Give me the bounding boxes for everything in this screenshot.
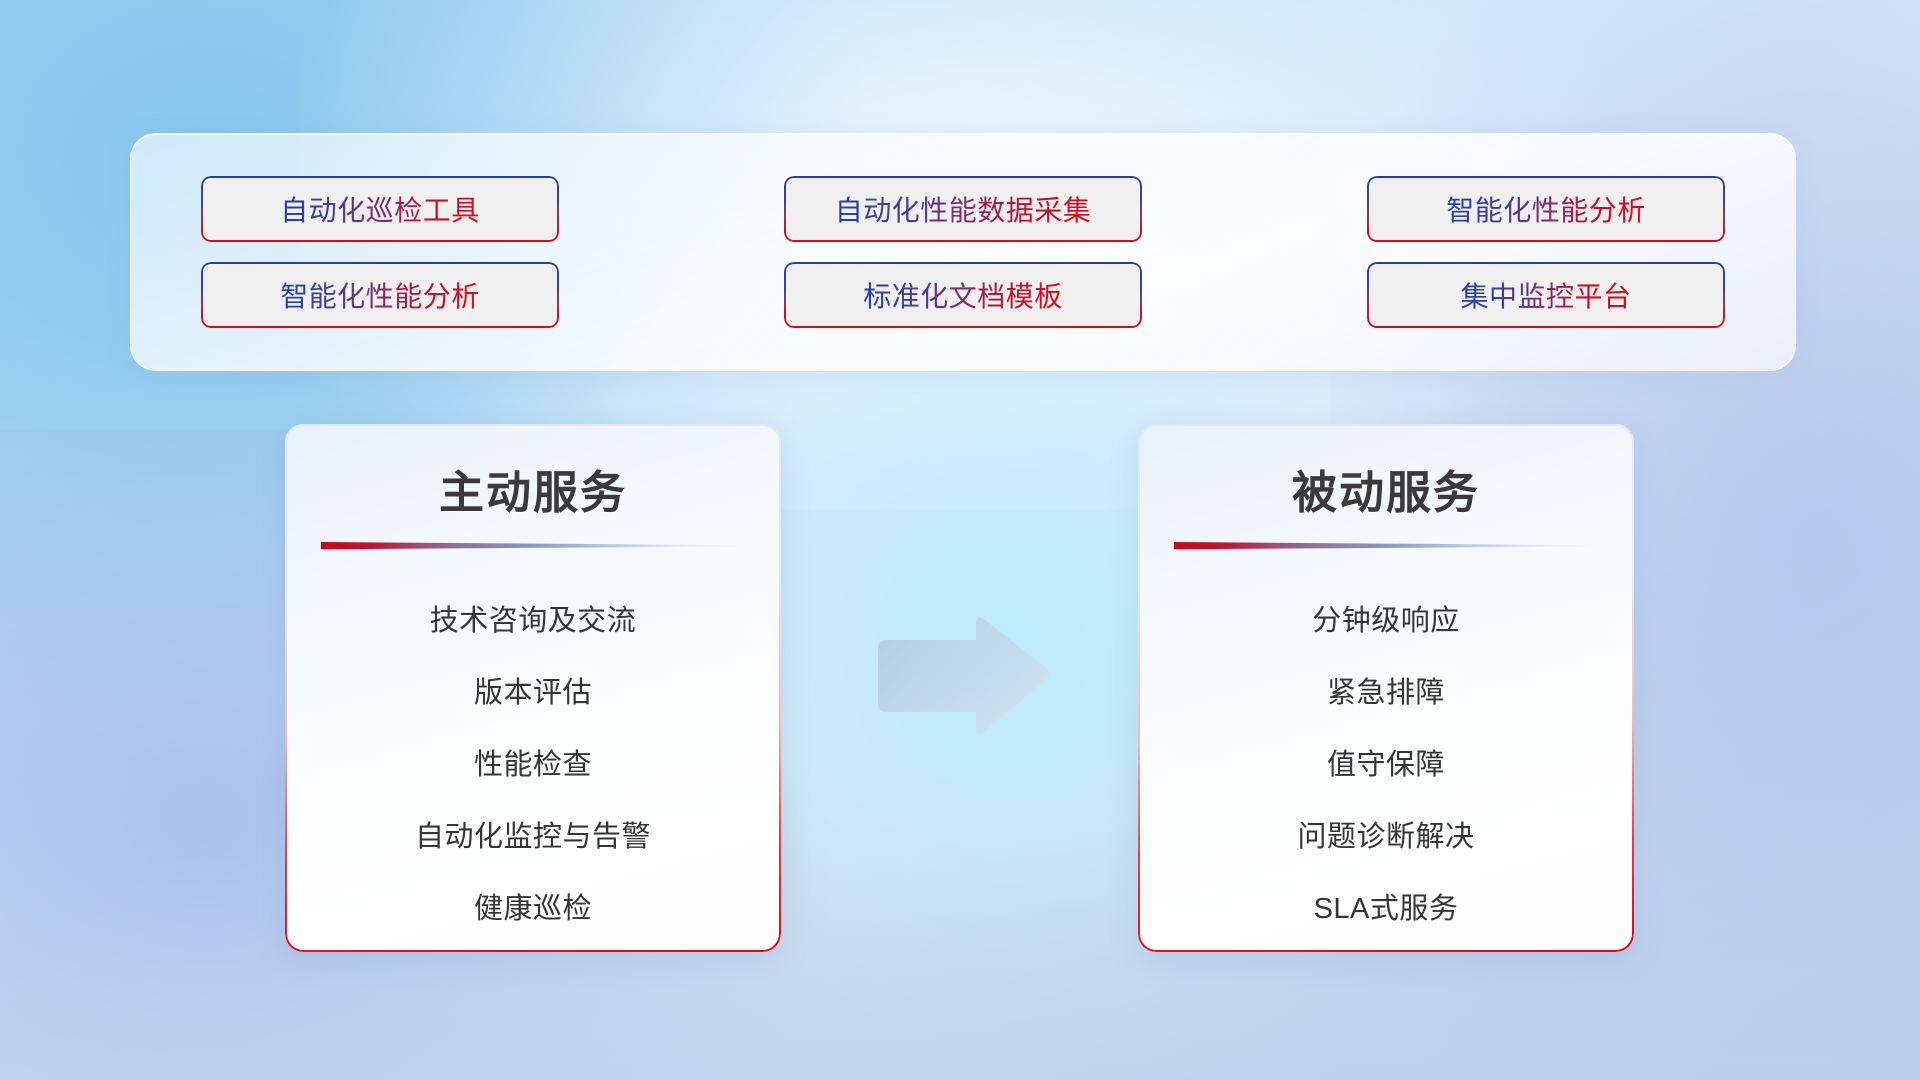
capability-tag-intelligent-perf-analysis[interactable]: 智能化性能分析 (1367, 176, 1725, 242)
list-item[interactable]: SLA式服务 (1314, 873, 1459, 945)
capability-tag-row-2: 智能化性能分析 标准化文档模板 集中监控平台 (201, 262, 1725, 328)
service-card-item-list: 分钟级响应 紧急排障 值守保障 问题诊断解决 SLA式服务 (1138, 585, 1634, 945)
service-card-proactive: 主动服务 技术咨询及交流 版本评估 性能检查 (285, 424, 781, 952)
list-item[interactable]: 分钟级响应 (1312, 585, 1460, 657)
capability-tag-central-monitoring-platform[interactable]: 集中监控平台 (1367, 262, 1725, 328)
capability-tags-panel: 自动化巡检工具 自动化性能数据采集 智能化性能分析 智能化性能分析 标准化文档模… (130, 133, 1796, 371)
service-card-item-list: 技术咨询及交流 版本评估 性能检查 自动化监控与告警 健康巡检 (285, 585, 781, 945)
capability-tag-label: 自动化性能数据采集 (835, 189, 1092, 229)
list-item[interactable]: 技术咨询及交流 (430, 585, 637, 657)
arrow-right-icon (872, 614, 1052, 739)
capability-tag-auto-inspection-tool[interactable]: 自动化巡检工具 (201, 176, 559, 242)
capability-tag-label: 标准化文档模板 (863, 275, 1063, 315)
list-item[interactable]: 自动化监控与告警 (415, 801, 651, 873)
list-item[interactable]: 健康巡检 (474, 873, 592, 945)
capability-tag-label: 集中监控平台 (1460, 275, 1631, 315)
service-card-title: 被动服务 (1292, 456, 1480, 521)
list-item[interactable]: 版本评估 (474, 657, 592, 729)
capability-tag-label: 智能化性能分析 (280, 275, 480, 315)
list-item[interactable]: 问题诊断解决 (1297, 801, 1474, 873)
card-title-divider (1174, 541, 1598, 551)
capability-tag-row-1: 自动化巡检工具 自动化性能数据采集 智能化性能分析 (201, 176, 1725, 242)
capability-tag-auto-perf-data-collection[interactable]: 自动化性能数据采集 (784, 176, 1142, 242)
service-card-title: 主动服务 (439, 456, 627, 521)
list-item[interactable]: 紧急排障 (1327, 657, 1445, 729)
capability-tag-intelligent-perf-analysis-2[interactable]: 智能化性能分析 (201, 262, 559, 328)
list-item[interactable]: 值守保障 (1327, 729, 1445, 801)
capability-tag-label: 自动化巡检工具 (280, 189, 480, 229)
service-card-reactive: 被动服务 分钟级响应 紧急排障 值守保障 (1138, 424, 1634, 952)
card-title-divider (321, 541, 745, 551)
capability-tag-standard-doc-template[interactable]: 标准化文档模板 (784, 262, 1142, 328)
capability-tag-label: 智能化性能分析 (1446, 189, 1646, 229)
list-item[interactable]: 性能检查 (474, 729, 592, 801)
